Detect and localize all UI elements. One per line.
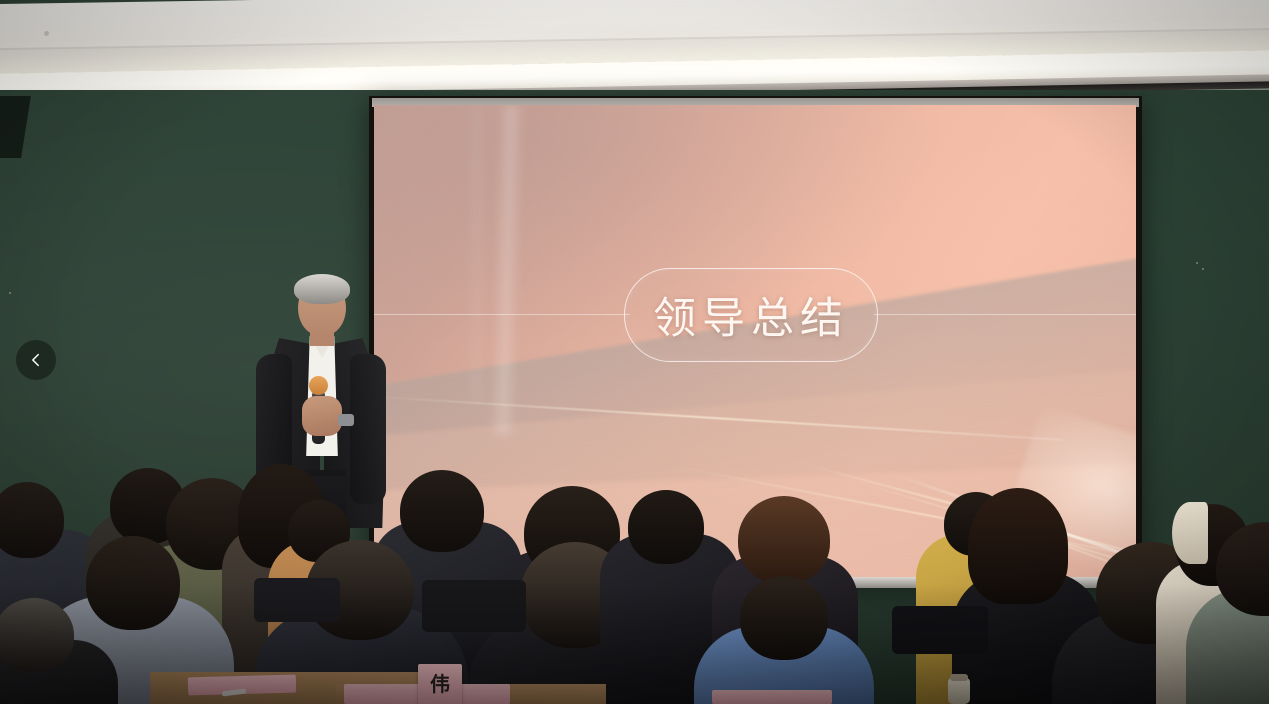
attendee-head [400, 470, 484, 552]
attendee-head [738, 496, 830, 584]
audience [0, 430, 1269, 704]
previous-image-button[interactable] [16, 340, 56, 380]
slide-hairline-left [374, 314, 630, 315]
attendee-head [0, 482, 64, 558]
chair-back [892, 606, 988, 654]
chair-back [422, 580, 526, 632]
attendee-headband [1172, 502, 1208, 564]
document-paper [712, 690, 832, 704]
name-placard-text: 伟 [430, 674, 450, 694]
microphone-head [309, 376, 328, 395]
chair-back [254, 578, 340, 622]
water-bottle [948, 678, 970, 704]
projector-streak [470, 105, 484, 405]
screenshot-root: 领导总结 [0, 0, 1269, 704]
attendee-head [86, 536, 180, 630]
water-bottle-cap [950, 674, 968, 681]
name-placard: 伟 [418, 664, 462, 704]
presenter-wristwatch [338, 414, 354, 426]
wall-speck [1196, 262, 1198, 264]
ceiling [0, 0, 1269, 96]
presenter-hair [294, 274, 350, 304]
attendee-head [0, 598, 74, 672]
slide-hairline-right [874, 314, 1136, 315]
slide-title-pill: 领导总结 [624, 268, 878, 362]
wall-speck [1202, 268, 1204, 270]
chevron-left-icon [28, 352, 44, 368]
wall-speck [9, 292, 11, 294]
attendee-head [740, 576, 828, 660]
attendee-head [628, 490, 704, 564]
ceiling-fitting [44, 31, 49, 36]
attendee-head [968, 488, 1068, 604]
slide-title: 领导总结 [653, 284, 849, 346]
